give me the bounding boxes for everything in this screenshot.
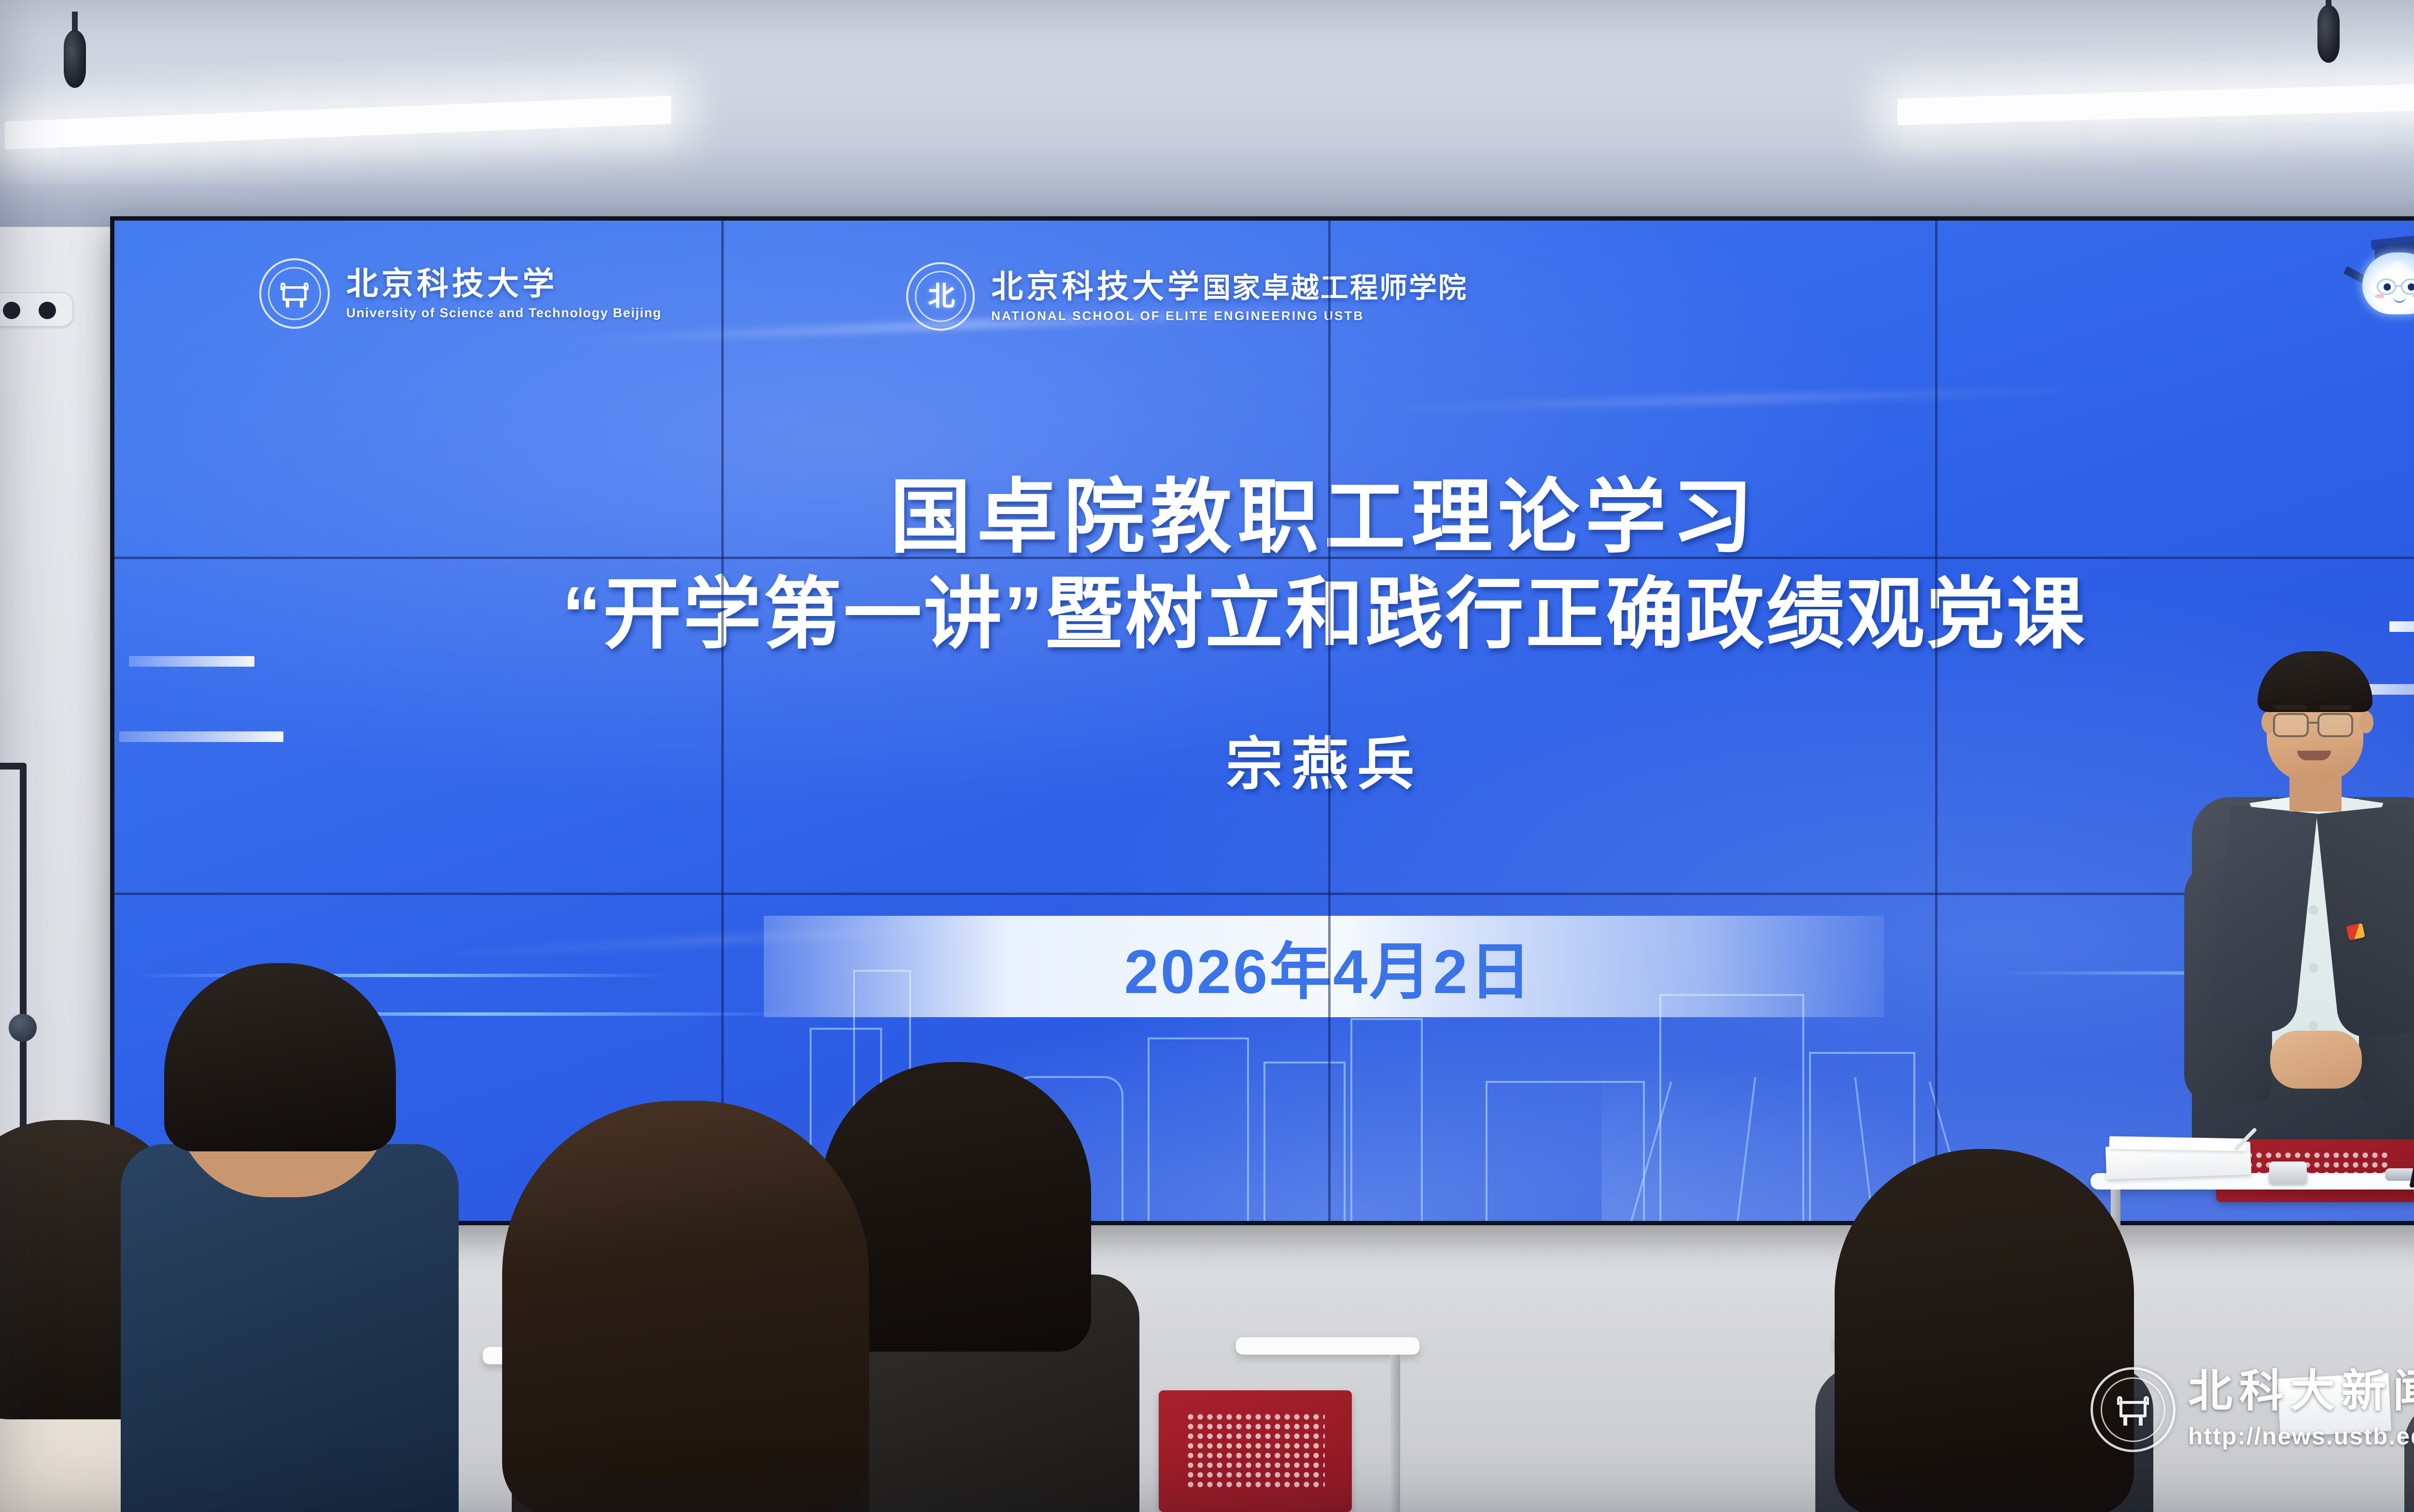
lecture-hall-photo: 14	[0, 0, 2414, 1512]
presentation-clicker[interactable]	[2269, 1162, 2307, 1184]
panel-seam-v3	[1935, 221, 1937, 1221]
ustb-university-seal-icon	[259, 258, 330, 329]
school-logo-text: 北京科技大学国家卓越工程师学院 NATIONAL SCHOOL OF ELITE…	[991, 269, 1468, 323]
university-logo-text: 北京科技大学 University of Science and Technol…	[346, 266, 662, 320]
eyeglasses-icon	[2273, 713, 2309, 737]
slide-date: 2026年4月2日	[114, 922, 2414, 1011]
university-name-en: University of Science and Technology Bei…	[346, 306, 662, 321]
watermark-url: http://news.ustb.edu.cn	[2188, 1422, 2414, 1450]
watermark-text-block: 北科大新闻网 http://news.ustb.edu.cn	[2188, 1369, 2414, 1450]
panel-seam-h1	[114, 557, 2414, 559]
university-name-cn: 北京科技大学	[346, 266, 662, 301]
slide-speaker-name: 宗燕兵	[114, 718, 2414, 800]
audience-man-navy-jacket	[121, 1144, 459, 1512]
news-site-watermark: 北科大新闻网 http://news.ustb.edu.cn	[2091, 1323, 2414, 1497]
national-school-elite-engineering-seal-icon: 北	[906, 262, 975, 331]
microphone-base	[2385, 1168, 2414, 1181]
presenter-person	[2158, 654, 2414, 1137]
whiteboard-knob-icon	[9, 1014, 37, 1042]
audience-woman-long-hair-hair	[502, 1101, 869, 1512]
school-name-cn: 北京科技大学国家卓越工程师学院	[991, 269, 1468, 304]
school-logo-block: 北 北京科技大学国家卓越工程师学院 NATIONAL SCHOOL OF ELI…	[906, 262, 1468, 331]
audience-right-woman-hair	[1835, 1149, 2134, 1512]
school-name-en: NATIONAL SCHOOL OF ELITE ENGINEERING UST…	[991, 308, 1468, 323]
slide-title-line-1: 国卓院教职工理论学习	[114, 472, 2414, 562]
panel-seam-h2	[114, 893, 2414, 895]
ustb-mascot-icon: 北	[2345, 244, 2414, 328]
lectern-papers	[2105, 1142, 2251, 1179]
slide-title-line-2: “开学第一讲”暨树立和践行正确政绩观党课	[114, 568, 2414, 660]
video-wall-display: 北京科技大学 University of Science and Technol…	[110, 216, 2414, 1225]
ceiling-sensor-left	[64, 30, 86, 88]
watermark-site-name: 北科大新闻网	[2188, 1369, 2414, 1414]
ceiling-shadow	[0, 145, 2414, 227]
seal-bei-glyph: 北	[928, 283, 953, 310]
university-logo-block: 北京科技大学 University of Science and Technol…	[259, 258, 662, 329]
wall-speaker-plate	[0, 292, 73, 327]
ustb-news-seal-icon	[2091, 1367, 2175, 1452]
slide-title-group: 国卓院教职工理论学习 “开学第一讲”暨树立和践行正确政绩观党课	[114, 472, 2414, 660]
slide-logo-row: 北京科技大学 University of Science and Technol…	[114, 255, 2414, 366]
panel-seam-v1	[721, 221, 724, 1221]
ceiling-sensor-right	[2317, 5, 2340, 63]
screen-glare-2	[1346, 384, 2118, 414]
audience-desk	[1236, 1337, 1419, 1355]
presentation-slide: 北京科技大学 University of Science and Technol…	[114, 221, 2414, 1221]
audience-chair	[1159, 1390, 1352, 1512]
panel-seam-v2	[1328, 221, 1331, 1221]
